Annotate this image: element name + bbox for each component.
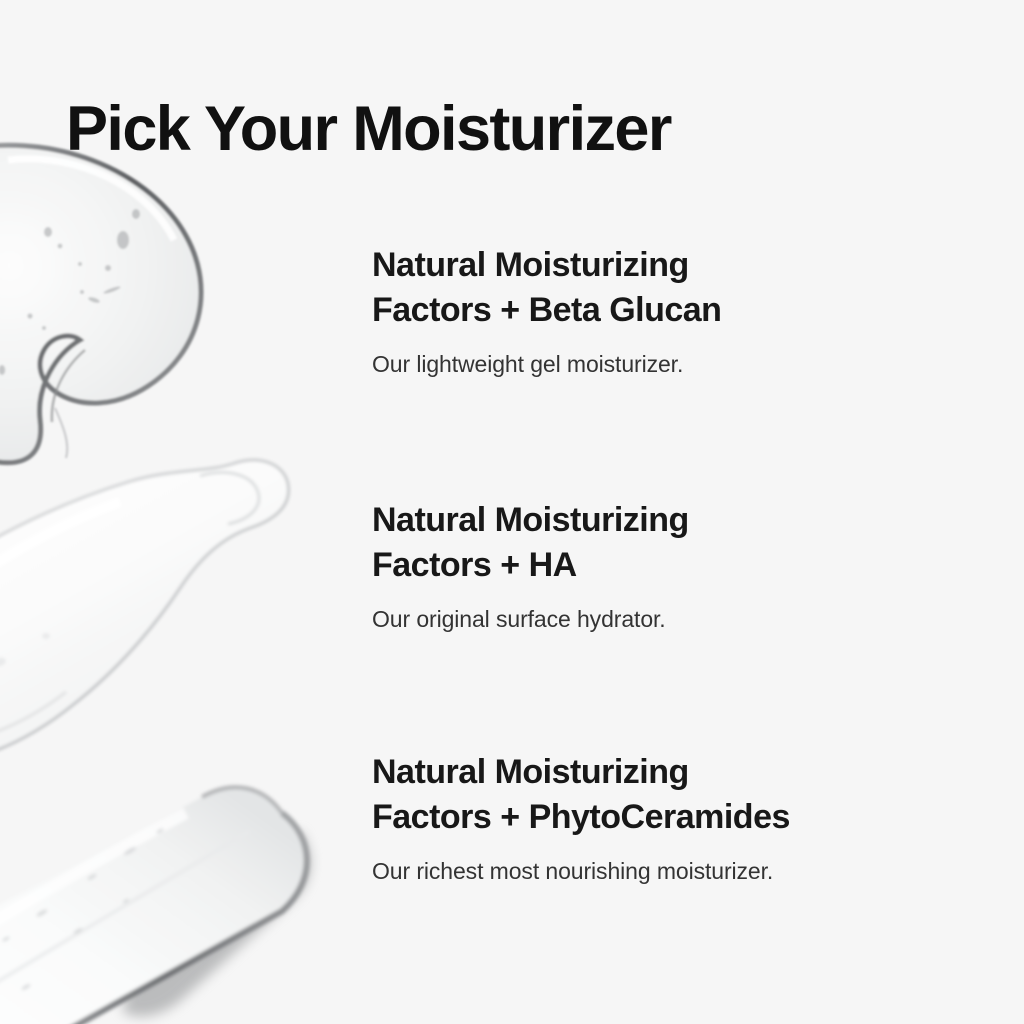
product-item-2[interactable]: Natural Moisturizing Factors + PhytoCera… (372, 750, 972, 886)
product-description: Our richest most nourishing moisturizer. (372, 856, 972, 886)
product-description: Our original surface hydrator. (372, 604, 972, 634)
gel-swatch-image (0, 140, 280, 470)
product-heading: Natural Moisturizing Factors + PhytoCera… (372, 750, 972, 840)
page-title: Pick Your Moisturizer (66, 96, 671, 162)
rich-cream-swatch-image (0, 735, 350, 1024)
product-item-0[interactable]: Natural Moisturizing Factors + Beta Gluc… (372, 243, 972, 379)
product-item-1[interactable]: Natural Moisturizing Factors + HA Our or… (372, 498, 972, 634)
cream-swatch-image (0, 450, 320, 770)
product-heading: Natural Moisturizing Factors + Beta Gluc… (372, 243, 972, 333)
product-heading: Natural Moisturizing Factors + HA (372, 498, 972, 588)
product-comparison-card: Pick Your Moisturizer Natural Moisturizi… (0, 0, 1024, 1024)
product-description: Our lightweight gel moisturizer. (372, 349, 972, 379)
